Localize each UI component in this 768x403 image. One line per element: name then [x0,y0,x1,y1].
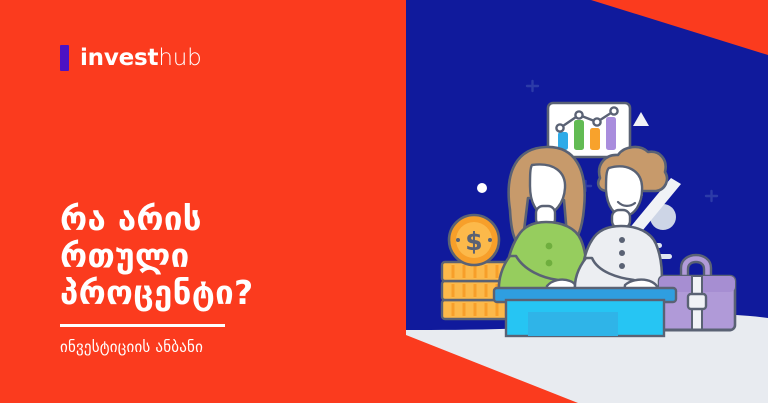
chart-bar-4 [606,117,616,150]
person-left [499,147,587,294]
chart-bar-3 [590,128,600,150]
chart-bar-2 [574,120,584,150]
title-divider [60,324,225,327]
svg-text:$: $ [465,227,482,256]
desk [494,288,676,336]
investhub-logo[interactable]: investhub [60,44,202,72]
logo-word-bold: invest [80,45,158,71]
page-title: რა არის რთული პროცენტი? [60,200,380,311]
headline-line-3: პროცენტი? [60,274,380,311]
headline-line-2: რთული [60,237,380,274]
dollar-coin-icon: $ [449,215,499,265]
marketing-banner: investhub რა არის რთული პროცენტი? ინვესტ… [0,0,768,403]
logo-bar-icon [60,45,69,71]
subtitle: ინვესტიციის ანბანი [60,336,203,358]
headline-line-1: რა არის [60,200,380,237]
logo-word-light: hub [158,45,201,71]
dot-decor-icon [477,183,487,193]
logo-wordmark: investhub [80,45,202,71]
illustration: $ [406,0,768,403]
person-right-face [606,166,642,216]
